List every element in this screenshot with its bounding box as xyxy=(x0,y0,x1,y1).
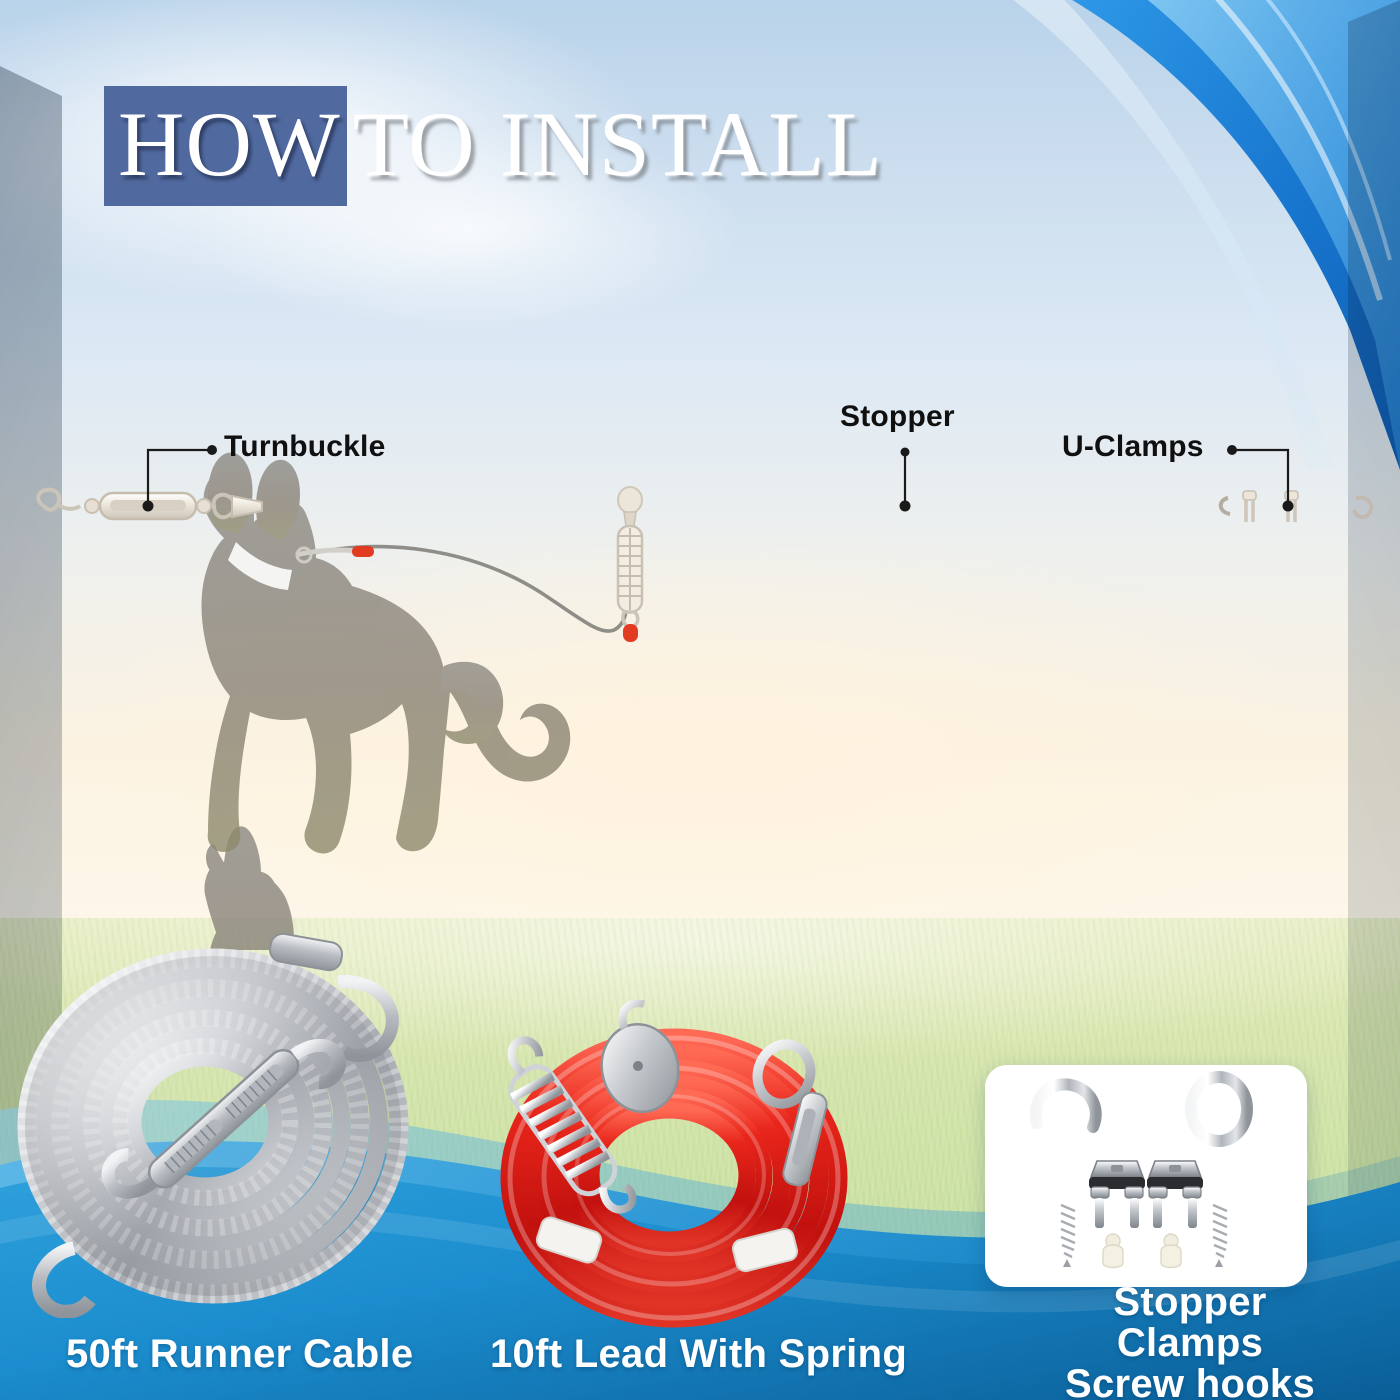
plastic-stopper-1 xyxy=(1103,1234,1123,1268)
caption-hardware-line-2: Clamps xyxy=(1060,1323,1320,1364)
product-hardware-card xyxy=(985,1065,1307,1287)
page-title: HOW TO INSTALL xyxy=(104,92,883,200)
lead-connector-red xyxy=(352,546,374,557)
title-highlight: HOW xyxy=(104,86,347,206)
caption-hardware: Stopper Clamps Screw hooks xyxy=(1060,1282,1320,1400)
title-rest: TO INSTALL xyxy=(347,86,883,206)
screw-hook-icon xyxy=(1036,1084,1096,1267)
caption-runner-cable: 50ft Runner Cable xyxy=(66,1332,413,1377)
label-u-clamps: U-Clamps xyxy=(1062,430,1204,464)
product-lead-with-spring-image xyxy=(462,1000,882,1330)
installation-diagram xyxy=(0,330,1400,950)
caption-hardware-line-1: Stopper xyxy=(1060,1282,1320,1323)
pulley-connector-red xyxy=(623,624,638,642)
caption-lead-spring: 10ft Lead With Spring xyxy=(490,1332,907,1377)
caption-hardware-line-3: Screw hooks xyxy=(1060,1364,1320,1400)
label-turnbuckle: Turnbuckle xyxy=(224,430,385,464)
turnbuckle-hardware xyxy=(85,493,262,519)
plastic-stopper-2 xyxy=(1161,1234,1181,1268)
left-screw-hook xyxy=(38,490,80,510)
infographic-canvas: HOW TO INSTALL xyxy=(0,0,1400,1400)
product-runner-cable-image xyxy=(8,918,438,1318)
stopper-pulley-assembly xyxy=(618,487,642,642)
label-stopper: Stopper xyxy=(840,400,955,434)
u-clamp-icon-1 xyxy=(1089,1161,1145,1228)
u-clamp-icon-2 xyxy=(1147,1161,1203,1228)
